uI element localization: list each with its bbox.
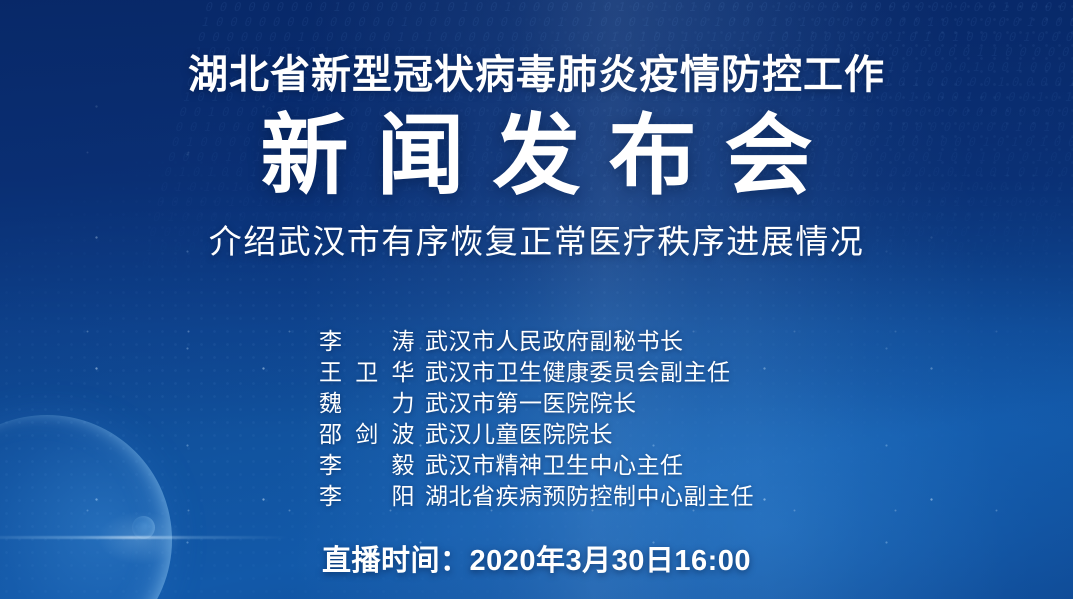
speaker-row: 李涛武汉市人民政府副秘书长 (319, 327, 754, 356)
broadcast-time: 直播时间：2020年3月30日16:00 (322, 537, 751, 579)
speaker-name: 李阳 (319, 482, 415, 511)
speaker-title: 武汉儿童医院院长 (425, 420, 613, 449)
speaker-title: 武汉市精神卫生中心主任 (425, 451, 684, 480)
speaker-name: 李毅 (319, 451, 415, 480)
poster-content: 湖北省新型冠状病毒肺炎疫情防控工作 新闻发布会 介绍武汉市有序恢复正常医疗秩序进… (0, 0, 1073, 599)
speaker-name: 邵剑波 (319, 420, 415, 449)
speaker-title: 湖北省疾病预防控制中心副主任 (425, 482, 754, 511)
speaker-name: 李涛 (319, 327, 415, 356)
page-title: 新闻发布会 (232, 108, 840, 203)
speaker-row: 李毅武汉市精神卫生中心主任 (319, 451, 754, 480)
speaker-title: 武汉市人民政府副秘书长 (425, 327, 684, 356)
speaker-name: 王卫华 (319, 358, 415, 387)
speaker-row: 王卫华武汉市卫生健康委员会副主任 (319, 358, 754, 387)
speaker-title: 武汉市卫生健康委员会副主任 (425, 358, 731, 387)
headline: 湖北省新型冠状病毒肺炎疫情防控工作 (188, 52, 885, 98)
speaker-row: 李阳湖北省疾病预防控制中心副主任 (319, 482, 754, 511)
news-conference-poster: 0000000001000000101001000001010010100000… (0, 0, 1073, 599)
speaker-title: 武汉市第一医院院长 (425, 389, 637, 418)
subtitle: 介绍武汉市有序恢复正常医疗秩序进展情况 (209, 215, 865, 263)
speaker-name: 魏力 (319, 389, 415, 418)
speaker-list: 李涛武汉市人民政府副秘书长王卫华武汉市卫生健康委员会副主任魏力武汉市第一医院院长… (319, 327, 754, 511)
speaker-row: 邵剑波武汉儿童医院院长 (319, 420, 754, 449)
speaker-row: 魏力武汉市第一医院院长 (319, 389, 754, 418)
